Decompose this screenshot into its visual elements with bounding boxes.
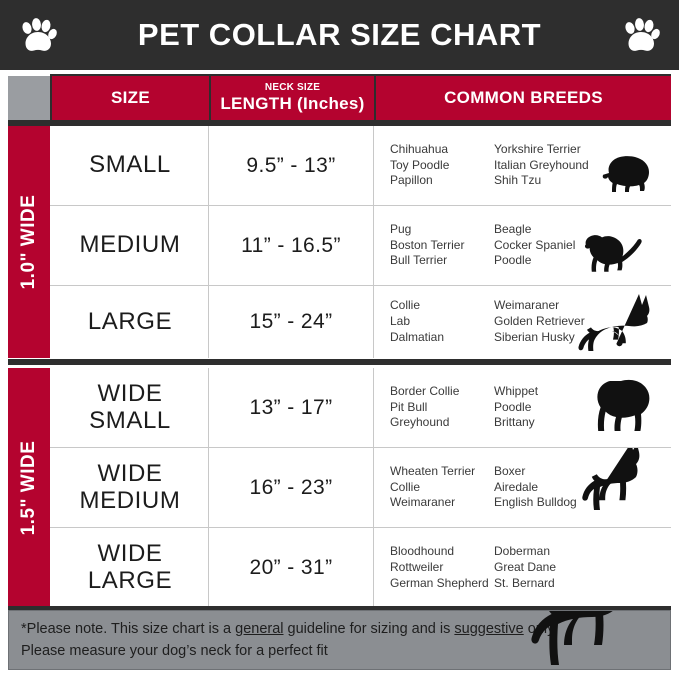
breed-list-secondary: Boxer Airedale English Bulldog bbox=[494, 464, 606, 511]
breed-item: Collie bbox=[390, 480, 494, 496]
column-header-breeds-label: COMMON BREEDS bbox=[444, 89, 603, 107]
cell-breeds: Border Collie Pit Bull Greyhound Whippet… bbox=[374, 368, 671, 447]
size-label: MEDIUM bbox=[80, 232, 181, 259]
section-rows-wide: WIDE SMALL 13” - 17” Border Collie Pit B… bbox=[50, 368, 671, 608]
breed-item: Bull Terrier bbox=[390, 253, 494, 269]
breed-item: Papillon bbox=[390, 173, 494, 189]
breed-item: Poodle bbox=[494, 400, 606, 416]
section-rows-narrow: SMALL 9.5” - 13” Chihuahua Toy Poodle Pa… bbox=[50, 126, 671, 358]
divider-sections bbox=[8, 359, 671, 365]
length-label: 20” - 31” bbox=[250, 556, 333, 580]
breed-item: Toy Poodle bbox=[390, 158, 494, 174]
breed-list-primary: Border Collie Pit Bull Greyhound bbox=[390, 384, 494, 431]
breed-list-primary: Collie Lab Dalmatian bbox=[390, 298, 494, 345]
breed-item: Pug bbox=[390, 222, 494, 238]
footer-line-2: Please measure your dog’s neck for a per… bbox=[21, 641, 658, 663]
cell-length: 15” - 24” bbox=[209, 286, 374, 358]
cell-length: 13” - 17” bbox=[209, 368, 374, 447]
table-row[interactable]: MEDIUM 11” - 16.5” Pug Boston Terrier Bu… bbox=[50, 206, 671, 286]
breed-item: English Bulldog bbox=[494, 495, 606, 511]
length-label: 16” - 23” bbox=[250, 476, 333, 500]
cell-size: WIDE LARGE bbox=[50, 528, 209, 608]
breed-item: Chihuahua bbox=[390, 142, 494, 158]
breed-item: Yorkshire Terrier bbox=[494, 142, 606, 158]
column-header-breeds: COMMON BREEDS bbox=[376, 76, 671, 120]
breed-item: Greyhound bbox=[390, 415, 494, 431]
pet-collar-size-chart: PET COLLAR SIZE CHART SIZE NECK SIZE LEN… bbox=[0, 0, 679, 678]
size-label: LARGE bbox=[88, 309, 172, 336]
table-row[interactable]: WIDE SMALL 13” - 17” Border Collie Pit B… bbox=[50, 368, 671, 448]
paw-print-icon bbox=[18, 18, 58, 56]
breed-item: Wheaten Terrier bbox=[390, 464, 494, 480]
footer-emphasis-suggestive: suggestive bbox=[454, 621, 523, 637]
cell-length: 16” - 23” bbox=[209, 448, 374, 527]
section-rail-wide-label: 1.5" WIDE bbox=[18, 441, 40, 536]
breed-item: Bloodhound bbox=[390, 544, 494, 560]
breed-item: Great Dane bbox=[494, 560, 606, 576]
table-row[interactable]: SMALL 9.5” - 13” Chihuahua Toy Poodle Pa… bbox=[50, 126, 671, 206]
breed-item: Italian Greyhound bbox=[494, 158, 606, 174]
cell-size: WIDE SMALL bbox=[50, 368, 209, 447]
column-header-length: NECK SIZE LENGTH (Inches) bbox=[211, 76, 374, 120]
footer-text-a: *Please note. This size chart is a bbox=[21, 621, 235, 637]
breed-item: German Shepherd bbox=[390, 576, 494, 592]
cell-length: 20” - 31” bbox=[209, 528, 374, 608]
cell-size: SMALL bbox=[50, 126, 209, 205]
paw-print-icon bbox=[621, 18, 661, 56]
breed-item: Whippet bbox=[494, 384, 606, 400]
title-bar: PET COLLAR SIZE CHART bbox=[0, 0, 679, 70]
breed-item: Dalmatian bbox=[390, 330, 494, 346]
cell-length: 11” - 16.5” bbox=[209, 206, 374, 285]
breed-item: Border Collie bbox=[390, 384, 494, 400]
breed-list-secondary: Whippet Poodle Brittany bbox=[494, 384, 606, 431]
section-rail-narrow-label: 1.0" WIDE bbox=[18, 195, 40, 290]
breed-item: St. Bernard bbox=[494, 576, 606, 592]
column-header-size: SIZE bbox=[52, 76, 209, 120]
cell-breeds: Collie Lab Dalmatian Weimaraner Golden R… bbox=[374, 286, 671, 358]
breed-list-secondary: Weimaraner Golden Retriever Siberian Hus… bbox=[494, 298, 606, 345]
footer-note: *Please note. This size chart is a gener… bbox=[8, 610, 671, 670]
cell-size: MEDIUM bbox=[50, 206, 209, 285]
length-label: 15” - 24” bbox=[250, 310, 333, 334]
breed-item: Weimaraner bbox=[494, 298, 606, 314]
length-label: 11” - 16.5” bbox=[241, 234, 341, 258]
table-row[interactable]: WIDE MEDIUM 16” - 23” Wheaten Terrier Co… bbox=[50, 448, 671, 528]
breed-item: Rottweiler bbox=[390, 560, 494, 576]
breed-item: Golden Retriever bbox=[494, 314, 606, 330]
breed-list-secondary: Beagle Cocker Spaniel Poodle bbox=[494, 222, 606, 269]
cell-breeds: Wheaten Terrier Collie Weimaraner Boxer … bbox=[374, 448, 671, 527]
breed-list-primary: Chihuahua Toy Poodle Papillon bbox=[390, 142, 494, 189]
size-label: WIDE LARGE bbox=[88, 541, 172, 595]
size-label: WIDE MEDIUM bbox=[80, 461, 181, 515]
column-header-size-label: SIZE bbox=[111, 89, 150, 107]
breed-item: Poodle bbox=[494, 253, 606, 269]
breed-item: Boston Terrier bbox=[390, 238, 494, 254]
footer-text-b: guideline for sizing and is bbox=[284, 621, 455, 637]
breed-list-secondary: Doberman Great Dane St. Bernard bbox=[494, 544, 606, 591]
breed-item: Airedale bbox=[494, 480, 606, 496]
size-label: WIDE SMALL bbox=[89, 381, 171, 435]
breed-item: Doberman bbox=[494, 544, 606, 560]
breed-item: Weimaraner bbox=[390, 495, 494, 511]
breed-item: Collie bbox=[390, 298, 494, 314]
section-rail-narrow: 1.0" WIDE bbox=[8, 126, 50, 358]
column-header-length-label: LENGTH (Inches) bbox=[220, 95, 364, 113]
breed-item: Cocker Spaniel bbox=[494, 238, 606, 254]
breed-item: Siberian Husky bbox=[494, 330, 606, 346]
breed-item: Brittany bbox=[494, 415, 606, 431]
section-rail-wide: 1.5" WIDE bbox=[8, 368, 50, 608]
breed-list-primary: Wheaten Terrier Collie Weimaraner bbox=[390, 464, 494, 511]
breed-item: Shih Tzu bbox=[494, 173, 606, 189]
length-label: 13” - 17” bbox=[250, 396, 333, 420]
table-row[interactable]: WIDE LARGE 20” - 31” Bloodhound Rottweil… bbox=[50, 528, 671, 608]
cell-breeds: Pug Boston Terrier Bull Terrier Beagle C… bbox=[374, 206, 671, 285]
header-corner-cell bbox=[8, 76, 50, 122]
breed-item: Beagle bbox=[494, 222, 606, 238]
cell-size: WIDE MEDIUM bbox=[50, 448, 209, 527]
cell-length: 9.5” - 13” bbox=[209, 126, 374, 205]
footer-text-c: only. bbox=[524, 621, 558, 637]
column-header-length-sublabel: NECK SIZE bbox=[265, 83, 320, 94]
length-label: 9.5” - 13” bbox=[246, 154, 335, 178]
cell-size: LARGE bbox=[50, 286, 209, 358]
breed-list-primary: Bloodhound Rottweiler German Shepherd bbox=[390, 544, 494, 591]
breed-list-secondary: Yorkshire Terrier Italian Greyhound Shih… bbox=[494, 142, 606, 189]
footer-line-1: *Please note. This size chart is a gener… bbox=[21, 619, 658, 641]
breed-item: Lab bbox=[390, 314, 494, 330]
page-title: PET COLLAR SIZE CHART bbox=[138, 17, 541, 53]
size-label: SMALL bbox=[89, 152, 171, 179]
cell-breeds: Chihuahua Toy Poodle Papillon Yorkshire … bbox=[374, 126, 671, 205]
footer-emphasis-general: general bbox=[235, 621, 283, 637]
breed-list-primary: Pug Boston Terrier Bull Terrier bbox=[390, 222, 494, 269]
cell-breeds: Bloodhound Rottweiler German Shepherd Do… bbox=[374, 528, 671, 608]
breed-item: Boxer bbox=[494, 464, 606, 480]
breed-item: Pit Bull bbox=[390, 400, 494, 416]
table-row[interactable]: LARGE 15” - 24” Collie Lab Dalmatian Wei… bbox=[50, 286, 671, 358]
